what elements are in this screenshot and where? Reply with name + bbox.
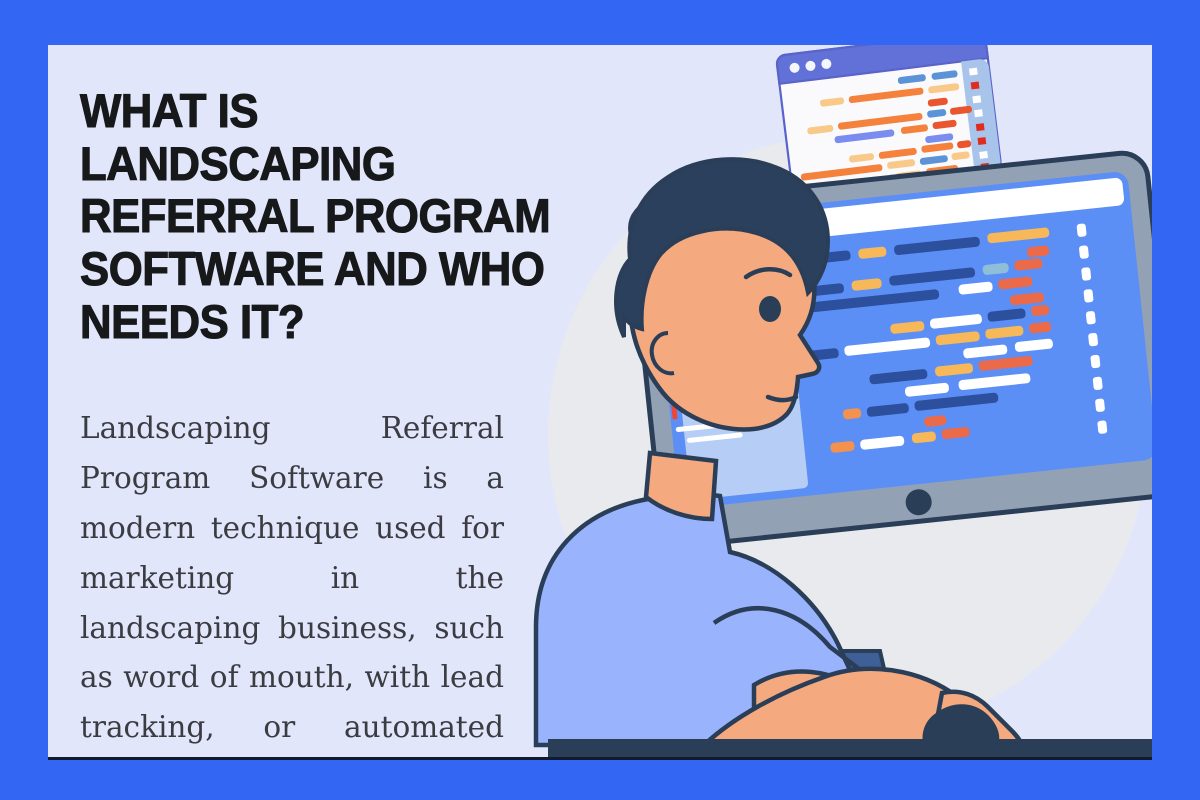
page-body-text: Landscaping Referral Program Software is… — [80, 404, 504, 757]
desk-surface — [548, 739, 1152, 757]
person-eye — [759, 296, 781, 322]
man-at-desk-illustration — [518, 45, 1152, 757]
text-column: WHAT IS LANDSCAPING REFERRAL PROGRAM SOF… — [80, 85, 520, 757]
page-title: WHAT IS LANDSCAPING REFERRAL PROGRAM SOF… — [80, 85, 564, 348]
illustration-container — [518, 45, 1152, 757]
poster-canvas: WHAT IS LANDSCAPING REFERRAL PROGRAM SOF… — [0, 0, 1200, 800]
content-card: WHAT IS LANDSCAPING REFERRAL PROGRAM SOF… — [48, 45, 1152, 757]
